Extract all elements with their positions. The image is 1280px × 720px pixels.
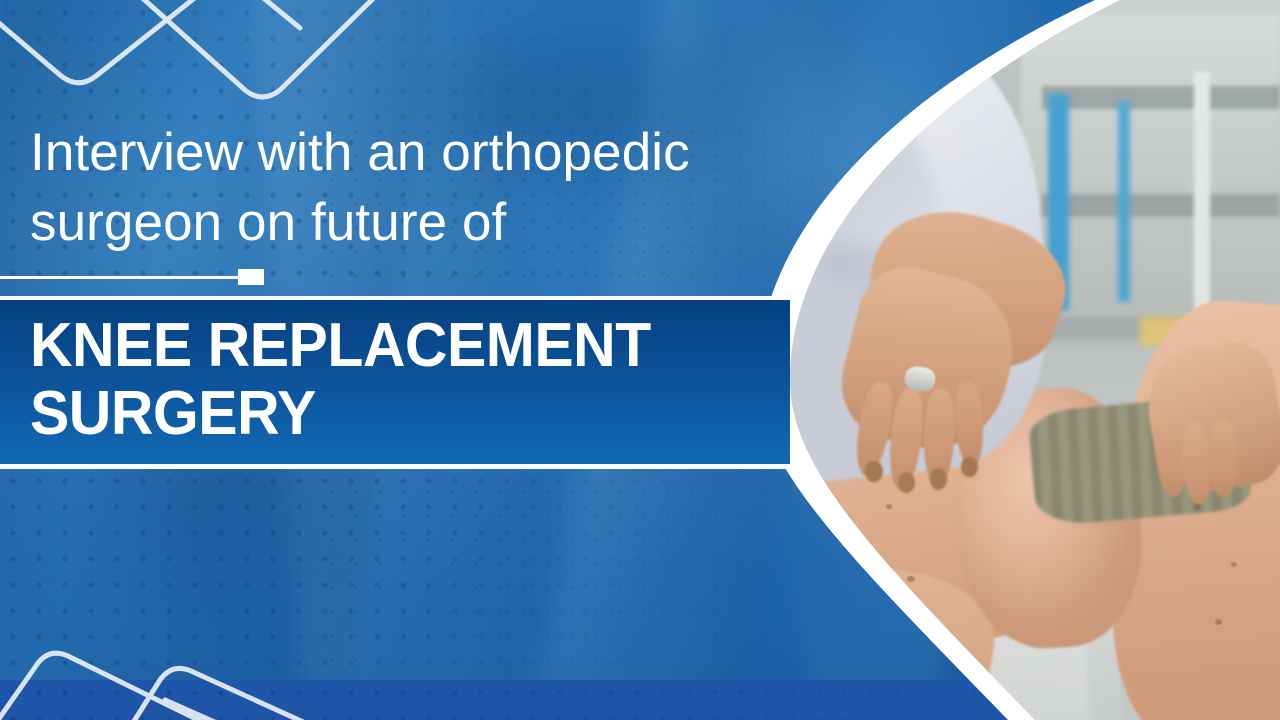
page-title: KNEE REPLACEMENT SURGERY — [30, 312, 752, 448]
headline-band-bottom-rule — [0, 464, 790, 469]
accent-dash — [238, 269, 264, 285]
accent-rule — [0, 276, 238, 279]
headline-band: KNEE REPLACEMENT SURGERY — [0, 296, 790, 472]
slide-canvas: Interview with an orthopedic surgeon on … — [0, 0, 1280, 720]
slide-kicker: Interview with an orthopedic surgeon on … — [30, 118, 810, 258]
